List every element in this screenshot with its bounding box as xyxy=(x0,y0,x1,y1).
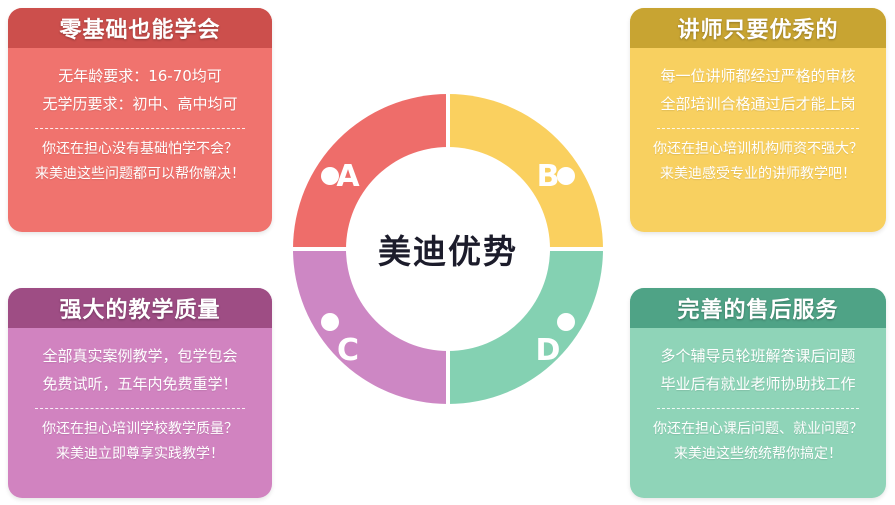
card-a-body: 无年龄要求：16-70均可 无学历要求：初中、高中均可 你还在担心没有基础怕学不… xyxy=(8,48,272,199)
card-a-title: 零基础也能学会 xyxy=(59,12,220,44)
donut-label-b: B xyxy=(537,159,560,194)
card-d-footer-line-2: 来美迪这些统统帮你搞定！ xyxy=(674,442,842,467)
card-d-body-line-1: 多个辅导员轮班解答课后问题 xyxy=(660,342,855,370)
card-a-body-line-1: 无年龄要求：16-70均可 xyxy=(58,62,222,90)
card-b-body: 每一位讲师都经过严格的审核 全部培训合格通过后才能上岗 你还在担心培训机构师资不… xyxy=(630,48,886,199)
card-c-divider xyxy=(35,408,245,409)
card-c-body-line-2: 免费试听，五年内免费重学！ xyxy=(42,370,237,398)
card-b-footer-line-2: 来美迪感受专业的讲师教学吧！ xyxy=(660,162,856,187)
card-b-footer-line-1: 你还在担心培训机构师资不强大？ xyxy=(653,137,863,162)
card-a-divider xyxy=(35,128,245,129)
card-d-body: 多个辅导员轮班解答课后问题 毕业后有就业老师协助找工作 你还在担心课后问题、就业… xyxy=(630,328,886,479)
card-d-divider xyxy=(657,408,860,409)
card-b-title: 讲师只要优秀的 xyxy=(677,12,838,44)
feature-card-d: 完善的售后服务 多个辅导员轮班解答课后问题 毕业后有就业老师协助找工作 你还在担… xyxy=(630,288,886,498)
card-d-header: 完善的售后服务 xyxy=(630,288,886,328)
card-a-footer-line-1: 你还在担心没有基础怕学不会？ xyxy=(42,137,238,162)
card-d-footer-line-1: 你还在担心课后问题、就业问题？ xyxy=(653,417,863,442)
card-c-body-line-1: 全部真实案例教学，包学包会 xyxy=(42,342,237,370)
card-b-header: 讲师只要优秀的 xyxy=(630,8,886,48)
donut-hole xyxy=(346,147,550,351)
donut-svg: A B C D xyxy=(289,90,607,408)
card-a-footer-line-2: 来美迪这些问题都可以帮你解决！ xyxy=(35,162,245,187)
card-b-divider xyxy=(657,128,860,129)
donut-label-a: A xyxy=(336,159,360,194)
feature-card-b: 讲师只要优秀的 每一位讲师都经过严格的审核 全部培训合格通过后才能上岗 你还在担… xyxy=(630,8,886,232)
donut-label-d: D xyxy=(536,333,561,368)
infographic-canvas: 零基础也能学会 无年龄要求：16-70均可 无学历要求：初中、高中均可 你还在担… xyxy=(0,0,895,505)
card-a-body-line-2: 无学历要求：初中、高中均可 xyxy=(42,90,237,118)
card-c-title: 强大的教学质量 xyxy=(59,292,220,324)
card-d-body-line-2: 毕业后有就业老师协助找工作 xyxy=(660,370,855,398)
card-c-body: 全部真实案例教学，包学包会 免费试听，五年内免费重学！ 你还在担心培训学校教学质… xyxy=(8,328,272,479)
card-c-footer-line-1: 你还在担心培训学校教学质量？ xyxy=(42,417,238,442)
donut-chart: A B C D 美迪优势 xyxy=(289,90,607,408)
card-b-body-line-1: 每一位讲师都经过严格的审核 xyxy=(660,62,855,90)
card-d-title: 完善的售后服务 xyxy=(677,292,838,324)
feature-card-a: 零基础也能学会 无年龄要求：16-70均可 无学历要求：初中、高中均可 你还在担… xyxy=(8,8,272,232)
card-c-header: 强大的教学质量 xyxy=(8,288,272,328)
donut-label-c: C xyxy=(337,333,359,368)
card-a-header: 零基础也能学会 xyxy=(8,8,272,48)
card-c-footer-line-2: 来美迪立即尊享实践教学！ xyxy=(56,442,224,467)
feature-card-c: 强大的教学质量 全部真实案例教学，包学包会 免费试听，五年内免费重学！ 你还在担… xyxy=(8,288,272,498)
card-b-body-line-2: 全部培训合格通过后才能上岗 xyxy=(660,90,855,118)
